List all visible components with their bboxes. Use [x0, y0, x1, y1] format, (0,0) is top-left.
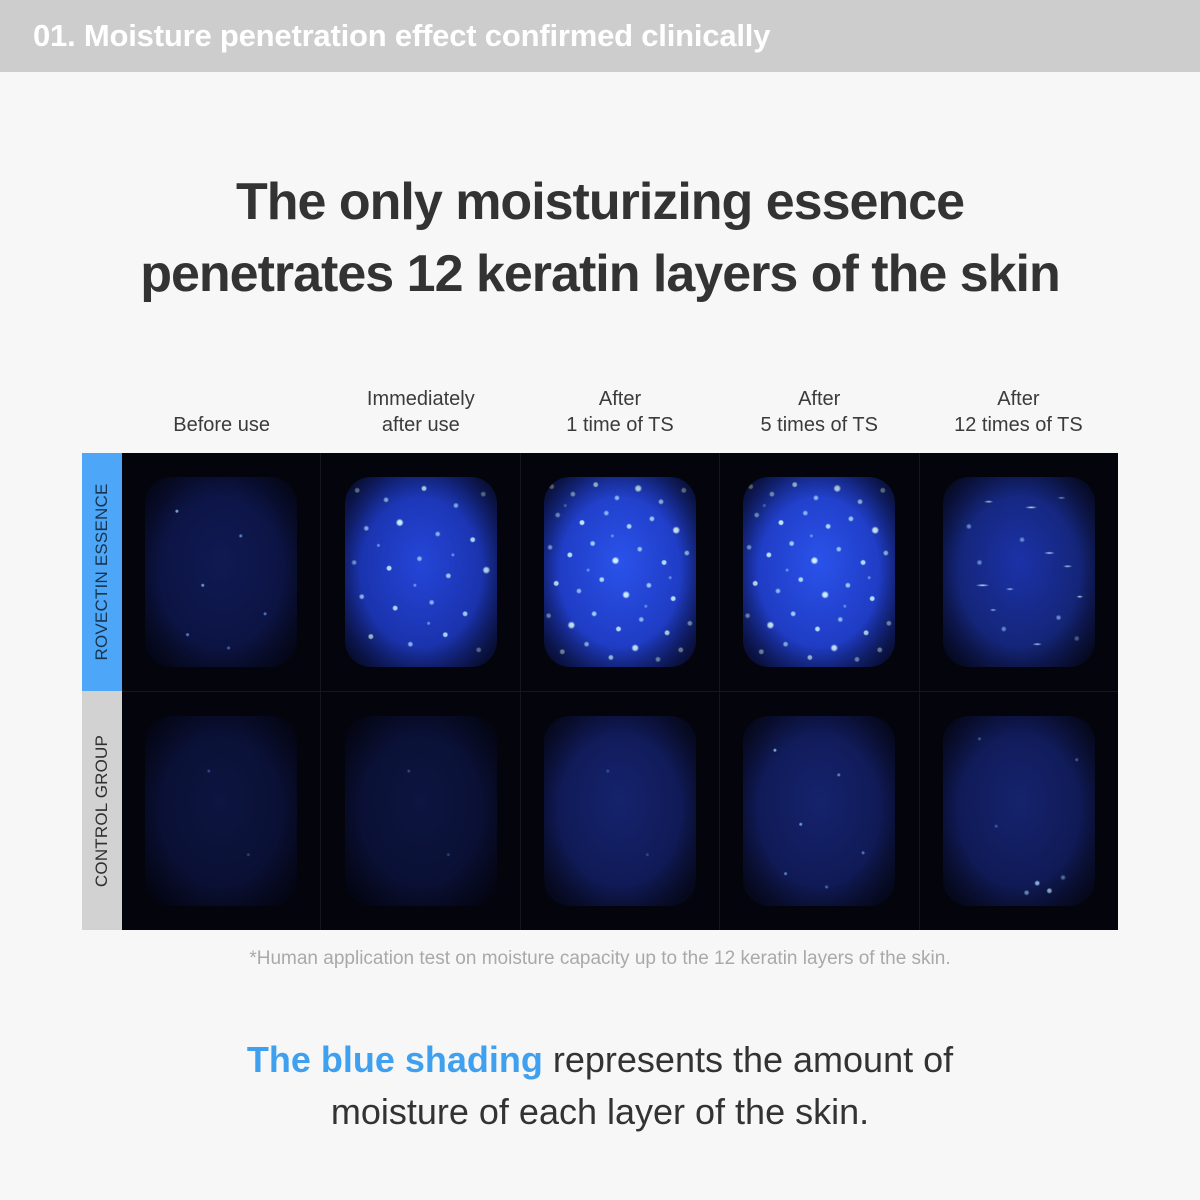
column-header-line-2: 5 times of TS	[760, 412, 877, 438]
column-header-line-2: Before use	[173, 412, 270, 438]
panel-essence-after-5-times	[720, 453, 919, 691]
panel-essence-before-use	[122, 453, 321, 691]
column-header-after-5-times: After 5 times of TS	[720, 378, 919, 440]
caption-line-1: The blue shading represents the amount o…	[0, 1034, 1200, 1086]
header-title: 01. Moisture penetration effect confirme…	[33, 18, 770, 54]
sample-vignette	[145, 716, 297, 906]
column-header-after-1-time: After 1 time of TS	[520, 378, 719, 440]
headline-line-1: The only moisturizing essence	[0, 166, 1200, 238]
fluorescence-sample	[544, 716, 696, 906]
fluorescence-sample	[743, 477, 895, 667]
caption-highlight: The blue shading	[247, 1039, 543, 1080]
panel-grid	[122, 453, 1118, 930]
fluorescence-sample	[145, 716, 297, 906]
panel-control-immediately-after-use	[321, 692, 520, 930]
column-header-line-2: 12 times of TS	[954, 412, 1083, 438]
row-label-text: CONTROL GROUP	[92, 734, 112, 886]
panel-essence-immediately-after-use	[321, 453, 520, 691]
column-header-line-1: After	[599, 386, 641, 412]
panel-control-after-1-time	[521, 692, 720, 930]
headline-line-2: penetrates 12 keratin layers of the skin	[0, 238, 1200, 310]
sample-vignette	[544, 477, 696, 667]
fluorescence-sample	[345, 716, 497, 906]
panel-control-after-5-times	[720, 692, 919, 930]
row-label-rovectin-essence: ROVECTIN ESSENCE	[82, 453, 122, 691]
column-header-line-1: Immediately	[367, 386, 475, 412]
column-header-after-12-times: After 12 times of TS	[919, 378, 1118, 440]
bottom-caption: The blue shading represents the amount o…	[0, 1034, 1200, 1138]
footnote-text: *Human application test on moisture capa…	[0, 948, 1200, 970]
row-label-column: ROVECTIN ESSENCE CONTROL GROUP	[82, 453, 122, 930]
panel-essence-after-1-time	[521, 453, 720, 691]
panel-essence-after-12-times	[920, 453, 1118, 691]
fluorescence-sample	[943, 477, 1095, 667]
caption-line-2: moisture of each layer of the skin.	[0, 1086, 1200, 1138]
sample-vignette	[345, 477, 497, 667]
fluorescence-sample	[943, 716, 1095, 906]
column-header-before-use: Before use	[122, 378, 321, 440]
row-label-text: ROVECTIN ESSENCE	[92, 483, 112, 660]
column-header-line-2: after use	[382, 412, 460, 438]
sample-vignette	[943, 477, 1095, 667]
column-header-row: Before use Immediately after use After 1…	[122, 378, 1118, 440]
column-header-line-1: After	[997, 386, 1039, 412]
column-header-immediately-after-use: Immediately after use	[321, 378, 520, 440]
fluorescence-sample	[345, 477, 497, 667]
panel-control-after-12-times	[920, 692, 1118, 930]
fluorescence-image-grid: ROVECTIN ESSENCE CONTROL GROUP	[82, 453, 1118, 930]
caption-line-1-rest: represents the amount of	[543, 1039, 953, 1080]
panel-row-rovectin-essence	[122, 453, 1118, 692]
sample-vignette	[145, 477, 297, 667]
sample-vignette	[743, 477, 895, 667]
panel-control-before-use	[122, 692, 321, 930]
sample-vignette	[345, 716, 497, 906]
sample-vignette	[544, 716, 696, 906]
sample-vignette	[943, 716, 1095, 906]
column-header-line-2: 1 time of TS	[566, 412, 673, 438]
fluorescence-sample	[544, 477, 696, 667]
column-header-line-1: After	[798, 386, 840, 412]
page-title: The only moisturizing essence penetrates…	[0, 166, 1200, 310]
panel-row-control-group	[122, 692, 1118, 930]
header-bar: 01. Moisture penetration effect confirme…	[0, 0, 1200, 72]
fluorescence-sample	[743, 716, 895, 906]
fluorescence-sample	[145, 477, 297, 667]
sample-vignette	[743, 716, 895, 906]
row-label-control-group: CONTROL GROUP	[82, 691, 122, 930]
